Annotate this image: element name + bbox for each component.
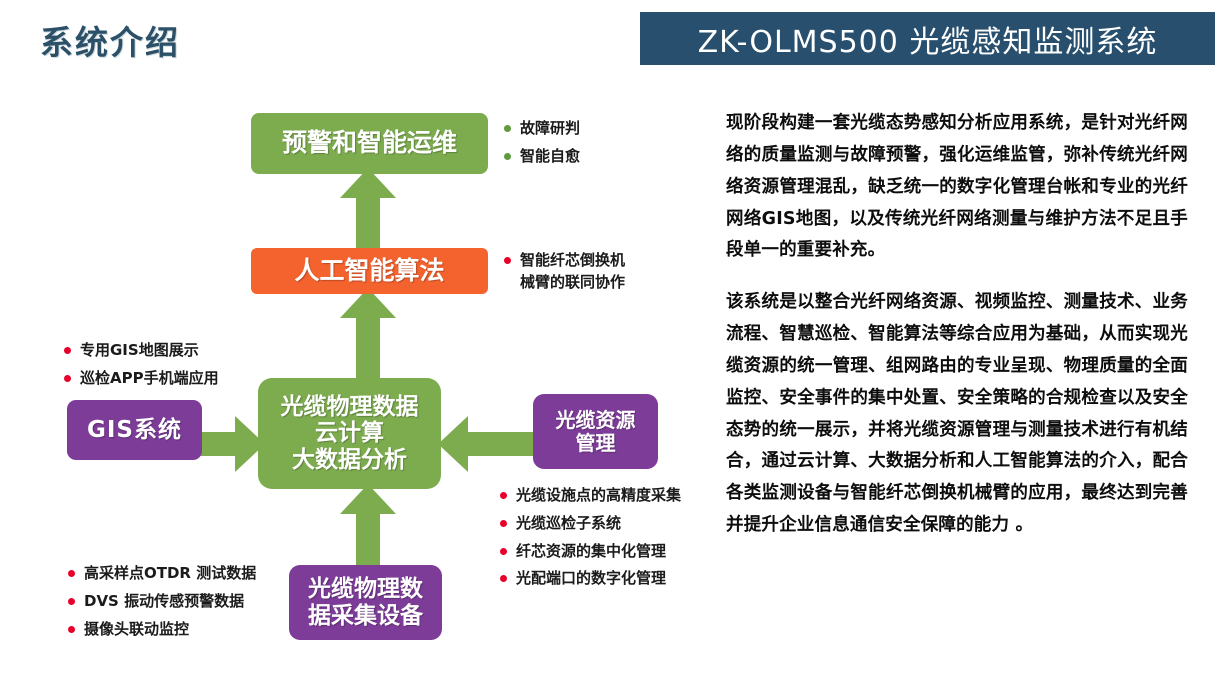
node-collect-line1: 光缆物理数 bbox=[308, 576, 423, 602]
bullet-item: DVS 振动传感预警数据 bbox=[68, 591, 298, 613]
bullet-text: 故障研判 bbox=[520, 118, 580, 140]
node-center-line1: 光缆物理数据 bbox=[281, 394, 419, 420]
node-warning-label: 预警和智能运维 bbox=[282, 129, 457, 158]
arrow-right-gis-to-center bbox=[197, 414, 265, 474]
bullet-item: 纤芯资源的集中化管理 bbox=[500, 541, 730, 563]
node-collect-line2: 据采集设备 bbox=[308, 603, 423, 629]
banner-title: ZK-OLMS500 光缆感知监测系统 bbox=[698, 17, 1158, 61]
node-cable-resource-management[interactable]: 光缆资源 管理 bbox=[533, 394, 658, 469]
architecture-diagram: 预警和智能运维 人工智能算法 光缆物理数据 云计算 大数据分析 GIS系统 光缆… bbox=[0, 0, 715, 675]
bullet-item: 智能自愈 bbox=[504, 146, 704, 168]
bullet-text: 光缆设施点的高精度采集 bbox=[516, 485, 681, 507]
bullet-text: 高采样点OTDR 测试数据 bbox=[84, 563, 256, 585]
bullet-item: 高采样点OTDR 测试数据 bbox=[68, 563, 298, 585]
bullet-dot-icon bbox=[68, 626, 75, 633]
bullet-list-resource: 光缆设施点的高精度采集光缆巡检子系统纤芯资源的集中化管理光配端口的数字化管理 bbox=[500, 485, 730, 596]
bullet-dot-icon bbox=[68, 598, 75, 605]
bullet-item: 智能纤芯倒换机 械臂的联同协作 bbox=[504, 250, 679, 294]
bullet-item: 光配端口的数字化管理 bbox=[500, 568, 730, 590]
node-ai-label: 人工智能算法 bbox=[294, 257, 444, 286]
bullet-text: DVS 振动传感预警数据 bbox=[84, 591, 244, 613]
bullet-item: 光缆设施点的高精度采集 bbox=[500, 485, 730, 507]
arrow-up-ai-to-warning bbox=[338, 168, 398, 250]
bullet-item: 故障研判 bbox=[504, 118, 704, 140]
bullet-text: 专用GIS地图展示 bbox=[80, 340, 199, 362]
bullet-text: 光缆巡检子系统 bbox=[516, 513, 621, 535]
bullet-dot-icon bbox=[500, 548, 507, 555]
bullet-item: 专用GIS地图展示 bbox=[64, 340, 294, 362]
bullet-list-ai: 智能纤芯倒换机 械臂的联同协作 bbox=[504, 250, 679, 300]
bullet-text: 巡检APP手机端应用 bbox=[80, 368, 219, 390]
node-ai-algorithm[interactable]: 人工智能算法 bbox=[251, 248, 488, 294]
description-column: 现阶段构建一套光缆态势感知分析应用系统，是针对光纤网络的质量监测与故障预警，强化… bbox=[726, 108, 1188, 562]
bullet-text: 智能自愈 bbox=[520, 146, 580, 168]
bullet-dot-icon bbox=[504, 153, 511, 160]
node-resource-line2: 管理 bbox=[576, 432, 616, 455]
bullet-dot-icon bbox=[500, 492, 507, 499]
node-gis-system[interactable]: GIS系统 bbox=[67, 400, 202, 460]
bullet-dot-icon bbox=[500, 575, 507, 582]
bullet-item: 摄像头联动监控 bbox=[68, 619, 298, 641]
bullet-list-warning: 故障研判智能自愈 bbox=[504, 118, 704, 174]
description-paragraph-2: 该系统是以整合光纤网络资源、视频监控、测量技术、业务流程、智慧巡检、智能算法等综… bbox=[726, 287, 1188, 542]
arrow-left-resource-to-center bbox=[438, 414, 538, 474]
bullet-text: 光配端口的数字化管理 bbox=[516, 568, 666, 590]
bullet-dot-icon bbox=[64, 375, 71, 382]
bullet-dot-icon bbox=[64, 347, 71, 354]
description-paragraph-1: 现阶段构建一套光缆态势感知分析应用系统，是针对光纤网络的质量监测与故障预警，强化… bbox=[726, 108, 1188, 267]
bullet-dot-icon bbox=[504, 125, 511, 132]
node-data-collection-device[interactable]: 光缆物理数 据采集设备 bbox=[289, 565, 442, 640]
bullet-text: 智能纤芯倒换机 械臂的联同协作 bbox=[520, 250, 625, 294]
node-resource-line1: 光缆资源 bbox=[556, 409, 636, 432]
bullet-list-collect: 高采样点OTDR 测试数据DVS 振动传感预警数据摄像头联动监控 bbox=[68, 563, 298, 646]
arrow-up-center-to-ai bbox=[338, 288, 398, 382]
node-warning-and-smart-ops[interactable]: 预警和智能运维 bbox=[251, 113, 488, 174]
slide-canvas: 系统介绍 ZK-OLMS500 光缆感知监测系统 bbox=[0, 0, 1215, 675]
bullet-list-gis: 专用GIS地图展示巡检APP手机端应用 bbox=[64, 340, 294, 396]
node-center-line2: 云计算 bbox=[315, 420, 384, 446]
bullet-text: 摄像头联动监控 bbox=[84, 619, 189, 641]
product-banner: ZK-OLMS500 光缆感知监测系统 bbox=[640, 12, 1215, 65]
bullet-dot-icon bbox=[68, 570, 75, 577]
bullet-dot-icon bbox=[500, 520, 507, 527]
node-center-line3: 大数据分析 bbox=[292, 447, 407, 473]
node-gis-label: GIS系统 bbox=[87, 417, 182, 443]
bullet-item: 巡检APP手机端应用 bbox=[64, 368, 294, 390]
arrow-up-collect-to-center bbox=[338, 484, 398, 572]
bullet-dot-icon bbox=[504, 257, 511, 264]
bullet-item: 光缆巡检子系统 bbox=[500, 513, 730, 535]
bullet-text: 纤芯资源的集中化管理 bbox=[516, 541, 666, 563]
